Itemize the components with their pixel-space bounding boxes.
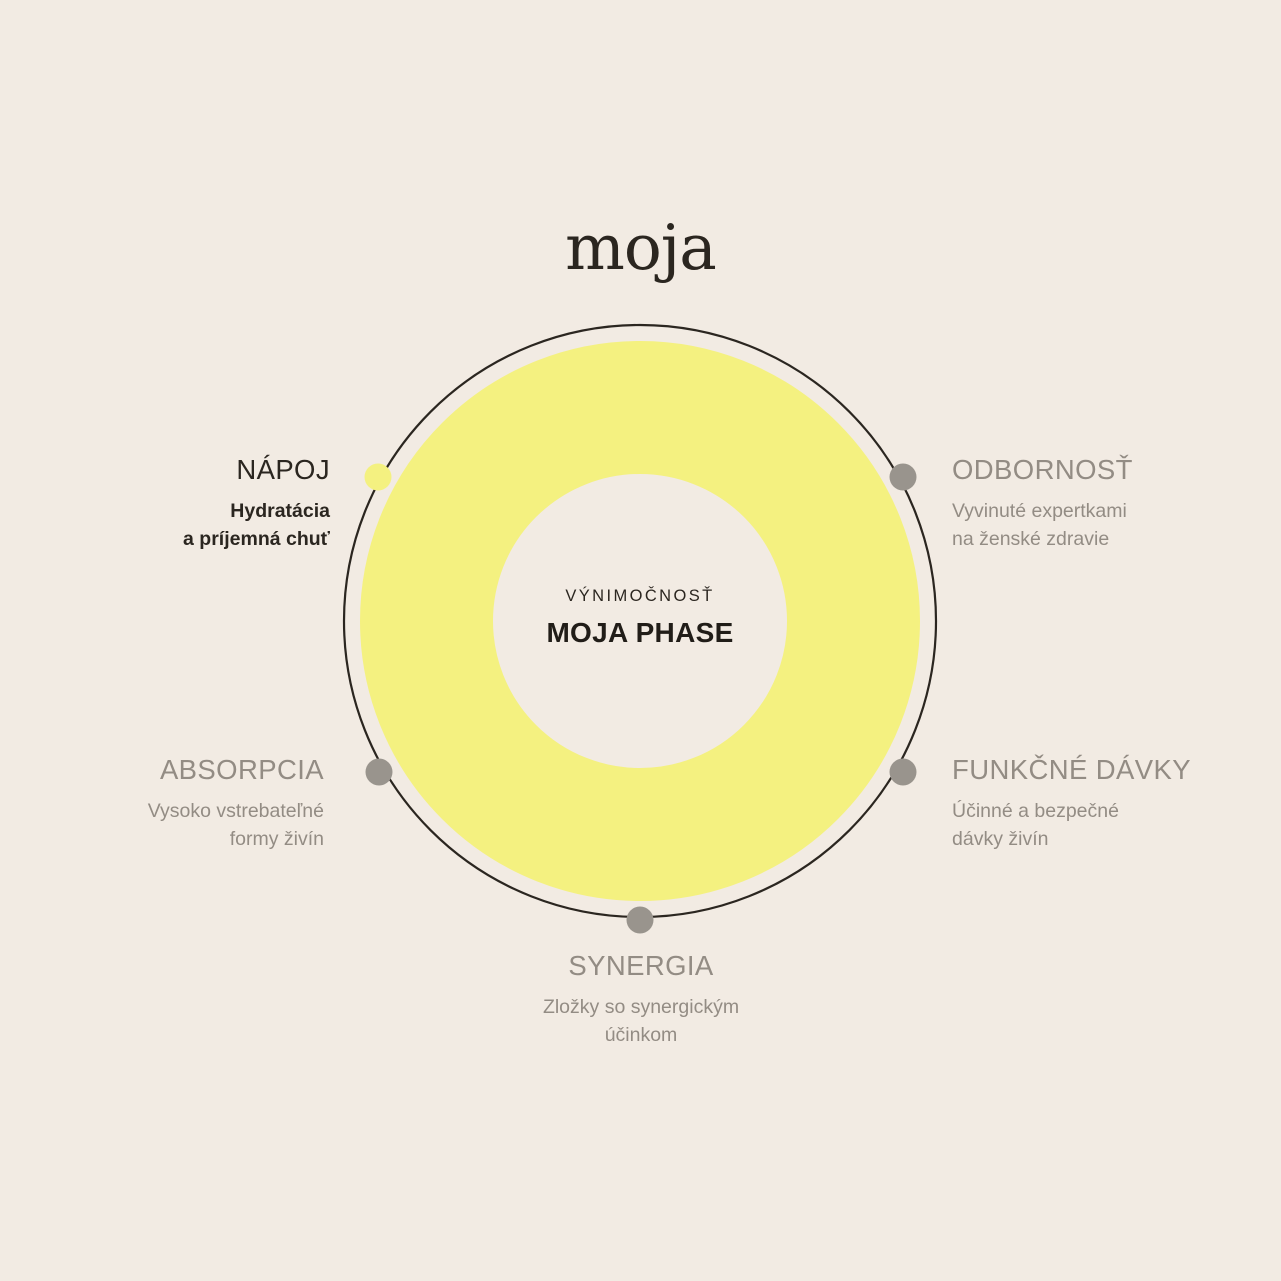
pillar-synergia-desc-line2: účinkom xyxy=(441,1022,841,1050)
pillar-dot-napoj[interactable] xyxy=(365,464,392,491)
pillar-dot-funkcne-davky[interactable] xyxy=(890,759,917,786)
pillar-synergia-desc-line1: Zložky so synergickým xyxy=(441,994,841,1022)
pillar-absorpcia-description: Vysoko vstrebateľné formy živín xyxy=(0,798,324,853)
pillar-funkcne-davky-title: FUNKČNÉ DÁVKY xyxy=(952,755,1281,785)
pillar-odbornost-desc-line1: Vyvinuté expertkami xyxy=(952,498,1281,526)
pillar-odbornost-description: Vyvinuté expertkami na ženské zdravie xyxy=(952,498,1281,553)
pillar-absorpcia-title: ABSORPCIA xyxy=(0,755,324,785)
pillar-synergia-description: Zložky so synergickým účinkom xyxy=(441,994,841,1049)
radial-diagram-graphic xyxy=(0,0,1281,1281)
diagram-canvas: moja VÝNIMOČNOSŤ MOJA PHASE NÁPOJ Hydrat… xyxy=(0,0,1281,1281)
pillar-absorpcia-desc-line1: Vysoko vstrebateľné xyxy=(0,798,324,826)
pillar-napoj-title: NÁPOJ xyxy=(0,455,330,485)
pillar-napoj[interactable]: NÁPOJ Hydratácia a príjemná chuť xyxy=(0,455,330,554)
pillar-napoj-desc-line2: a príjemná chuť xyxy=(0,526,330,554)
pillar-dot-odbornost[interactable] xyxy=(890,464,917,491)
yellow-ring xyxy=(427,408,854,835)
pillar-napoj-desc-line1: Hydratácia xyxy=(0,498,330,526)
pillar-odbornost-desc-line2: na ženské zdravie xyxy=(952,526,1281,554)
pillar-absorpcia[interactable]: ABSORPCIA Vysoko vstrebateľné formy živí… xyxy=(0,755,324,854)
pillar-absorpcia-desc-line2: formy živín xyxy=(0,826,324,854)
pillar-funkcne-davky-description: Účinné a bezpečné dávky živín xyxy=(952,798,1281,853)
pillar-napoj-description: Hydratácia a príjemná chuť xyxy=(0,498,330,553)
pillar-odbornost[interactable]: ODBORNOSŤ Vyvinuté expertkami na ženské … xyxy=(952,455,1281,554)
pillar-funkcne-davky-desc-line2: dávky živín xyxy=(952,826,1281,854)
pillar-odbornost-title: ODBORNOSŤ xyxy=(952,455,1281,485)
pillar-dot-synergia[interactable] xyxy=(627,907,654,934)
pillar-synergia-title: SYNERGIA xyxy=(441,951,841,981)
pillar-synergia[interactable]: SYNERGIA Zložky so synergickým účinkom xyxy=(441,951,841,1050)
pillar-funkcne-davky[interactable]: FUNKČNÉ DÁVKY Účinné a bezpečné dávky ži… xyxy=(952,755,1281,854)
pillar-dot-absorpcia[interactable] xyxy=(366,759,393,786)
pillar-funkcne-davky-desc-line1: Účinné a bezpečné xyxy=(952,798,1281,826)
